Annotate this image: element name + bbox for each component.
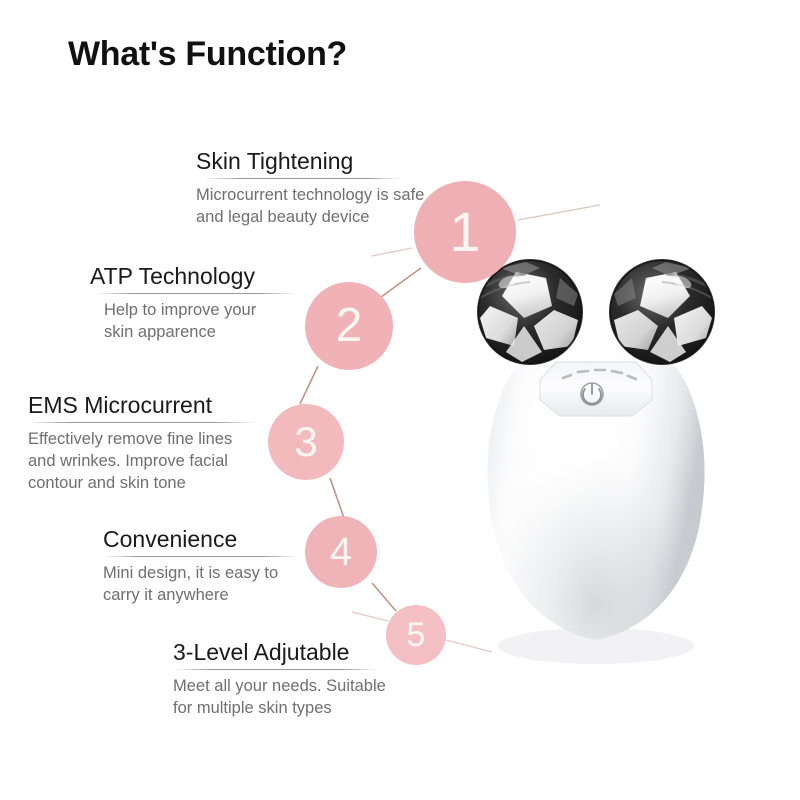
step-circle-2: 2	[305, 282, 393, 370]
connector-1-to-device	[518, 205, 600, 220]
device-illustration	[478, 260, 714, 664]
connector-1-to-2	[381, 268, 421, 297]
step-circle-1: 1	[414, 181, 516, 283]
feature-body-5: Meet all your needs. Suitable for multip…	[173, 676, 386, 720]
feature-body-4: Mini design, it is easy to carry it anyw…	[103, 563, 299, 607]
feature-body-3: Effectively remove fine lines and wrinke…	[28, 429, 256, 494]
feature-heading-3: EMS Microcurrent	[28, 392, 256, 418]
feature-divider-1	[204, 178, 402, 179]
feature-block-1: Skin Tightening Microcurrent technology …	[196, 148, 424, 229]
feature-heading-4: Convenience	[103, 526, 299, 552]
step-circle-3: 3	[268, 404, 344, 480]
feature-body-2: Help to improve your skin apparence	[104, 300, 296, 344]
device-roller-left	[478, 260, 582, 364]
feature-block-5: 3-Level Adjutable Meet all your needs. S…	[173, 639, 386, 720]
connector-4-to-5	[372, 583, 396, 611]
feature-divider-2	[96, 293, 296, 294]
feature-heading-2: ATP Technology	[90, 263, 296, 289]
page-title: What's Function?	[68, 35, 347, 74]
feature-heading-5: 3-Level Adjutable	[173, 639, 386, 665]
connector-5-right-tail	[446, 640, 492, 652]
feature-block-4: Convenience Mini design, it is easy to c…	[103, 526, 299, 607]
feature-divider-3	[28, 422, 256, 423]
feature-divider-4	[103, 556, 299, 557]
feature-body-1: Microcurrent technology is safe and lega…	[196, 185, 424, 229]
connector-1-left-tail	[372, 248, 412, 256]
step-circle-4: 4	[305, 516, 377, 588]
feature-block-2: ATP Technology Help to improve your skin…	[90, 263, 296, 344]
step-circle-5: 5	[386, 605, 446, 665]
feature-heading-1: Skin Tightening	[196, 148, 424, 174]
connector-2-to-3	[300, 366, 318, 404]
device-roller-right	[610, 260, 714, 364]
feature-block-3: EMS Microcurrent Effectively remove fine…	[28, 392, 256, 495]
feature-divider-5	[173, 669, 379, 670]
connector-3-to-4	[330, 478, 344, 518]
connector-5-left-tail	[352, 612, 388, 621]
